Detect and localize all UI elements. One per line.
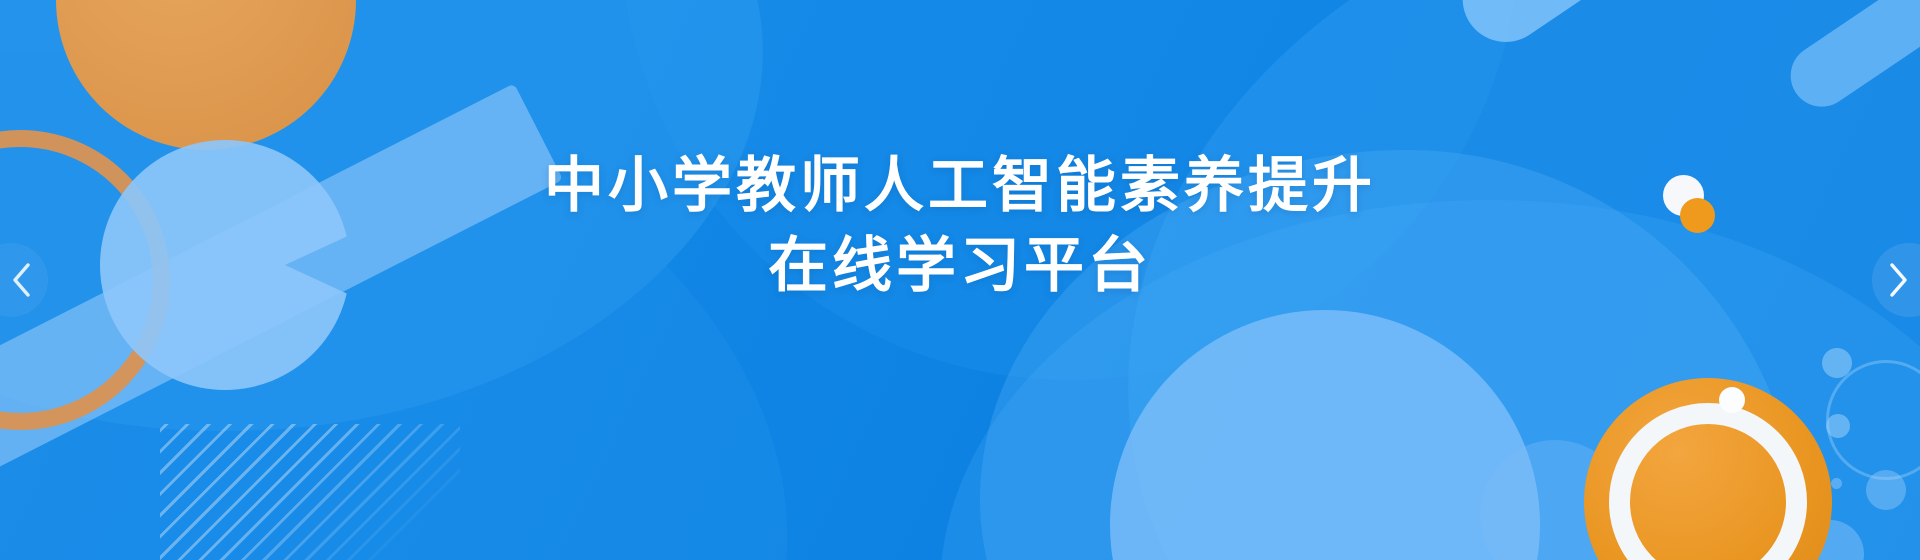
- orange-donut-highlight-dot: [1719, 387, 1745, 413]
- pale-blue-circle-center-right: [1110, 310, 1540, 560]
- hero-banner: 中小学教师人工智能素养提升 在线学习平台: [0, 0, 1920, 560]
- orange-donut-white-ring: [1609, 403, 1807, 560]
- diagonal-hatch-lines-bottom-left: [160, 424, 460, 560]
- bubble-circle: [1831, 478, 1842, 489]
- bubble-circle: [1826, 414, 1850, 438]
- chevron-left-icon: [0, 263, 31, 297]
- chevron-right-icon: [1889, 263, 1920, 297]
- banner-title-line-2: 在线学习平台: [0, 226, 1920, 306]
- bubble-circle: [1866, 470, 1906, 510]
- banner-title-line-1: 中小学教师人工智能素养提升: [0, 146, 1920, 226]
- diagonal-capsule-bar-small: [1779, 0, 1920, 119]
- orange-circle-top-left: [56, 0, 356, 150]
- bubble-circle: [1796, 520, 1864, 560]
- orange-donut-bottom-right: [1584, 378, 1832, 560]
- bubble-circle: [1822, 348, 1852, 378]
- thin-ring-outline-right: [1826, 360, 1920, 480]
- pale-blue-circle-small: [1480, 440, 1630, 560]
- diagonal-capsule-bar-large: [1446, 0, 1920, 59]
- banner-title: 中小学教师人工智能素养提升 在线学习平台: [0, 146, 1920, 306]
